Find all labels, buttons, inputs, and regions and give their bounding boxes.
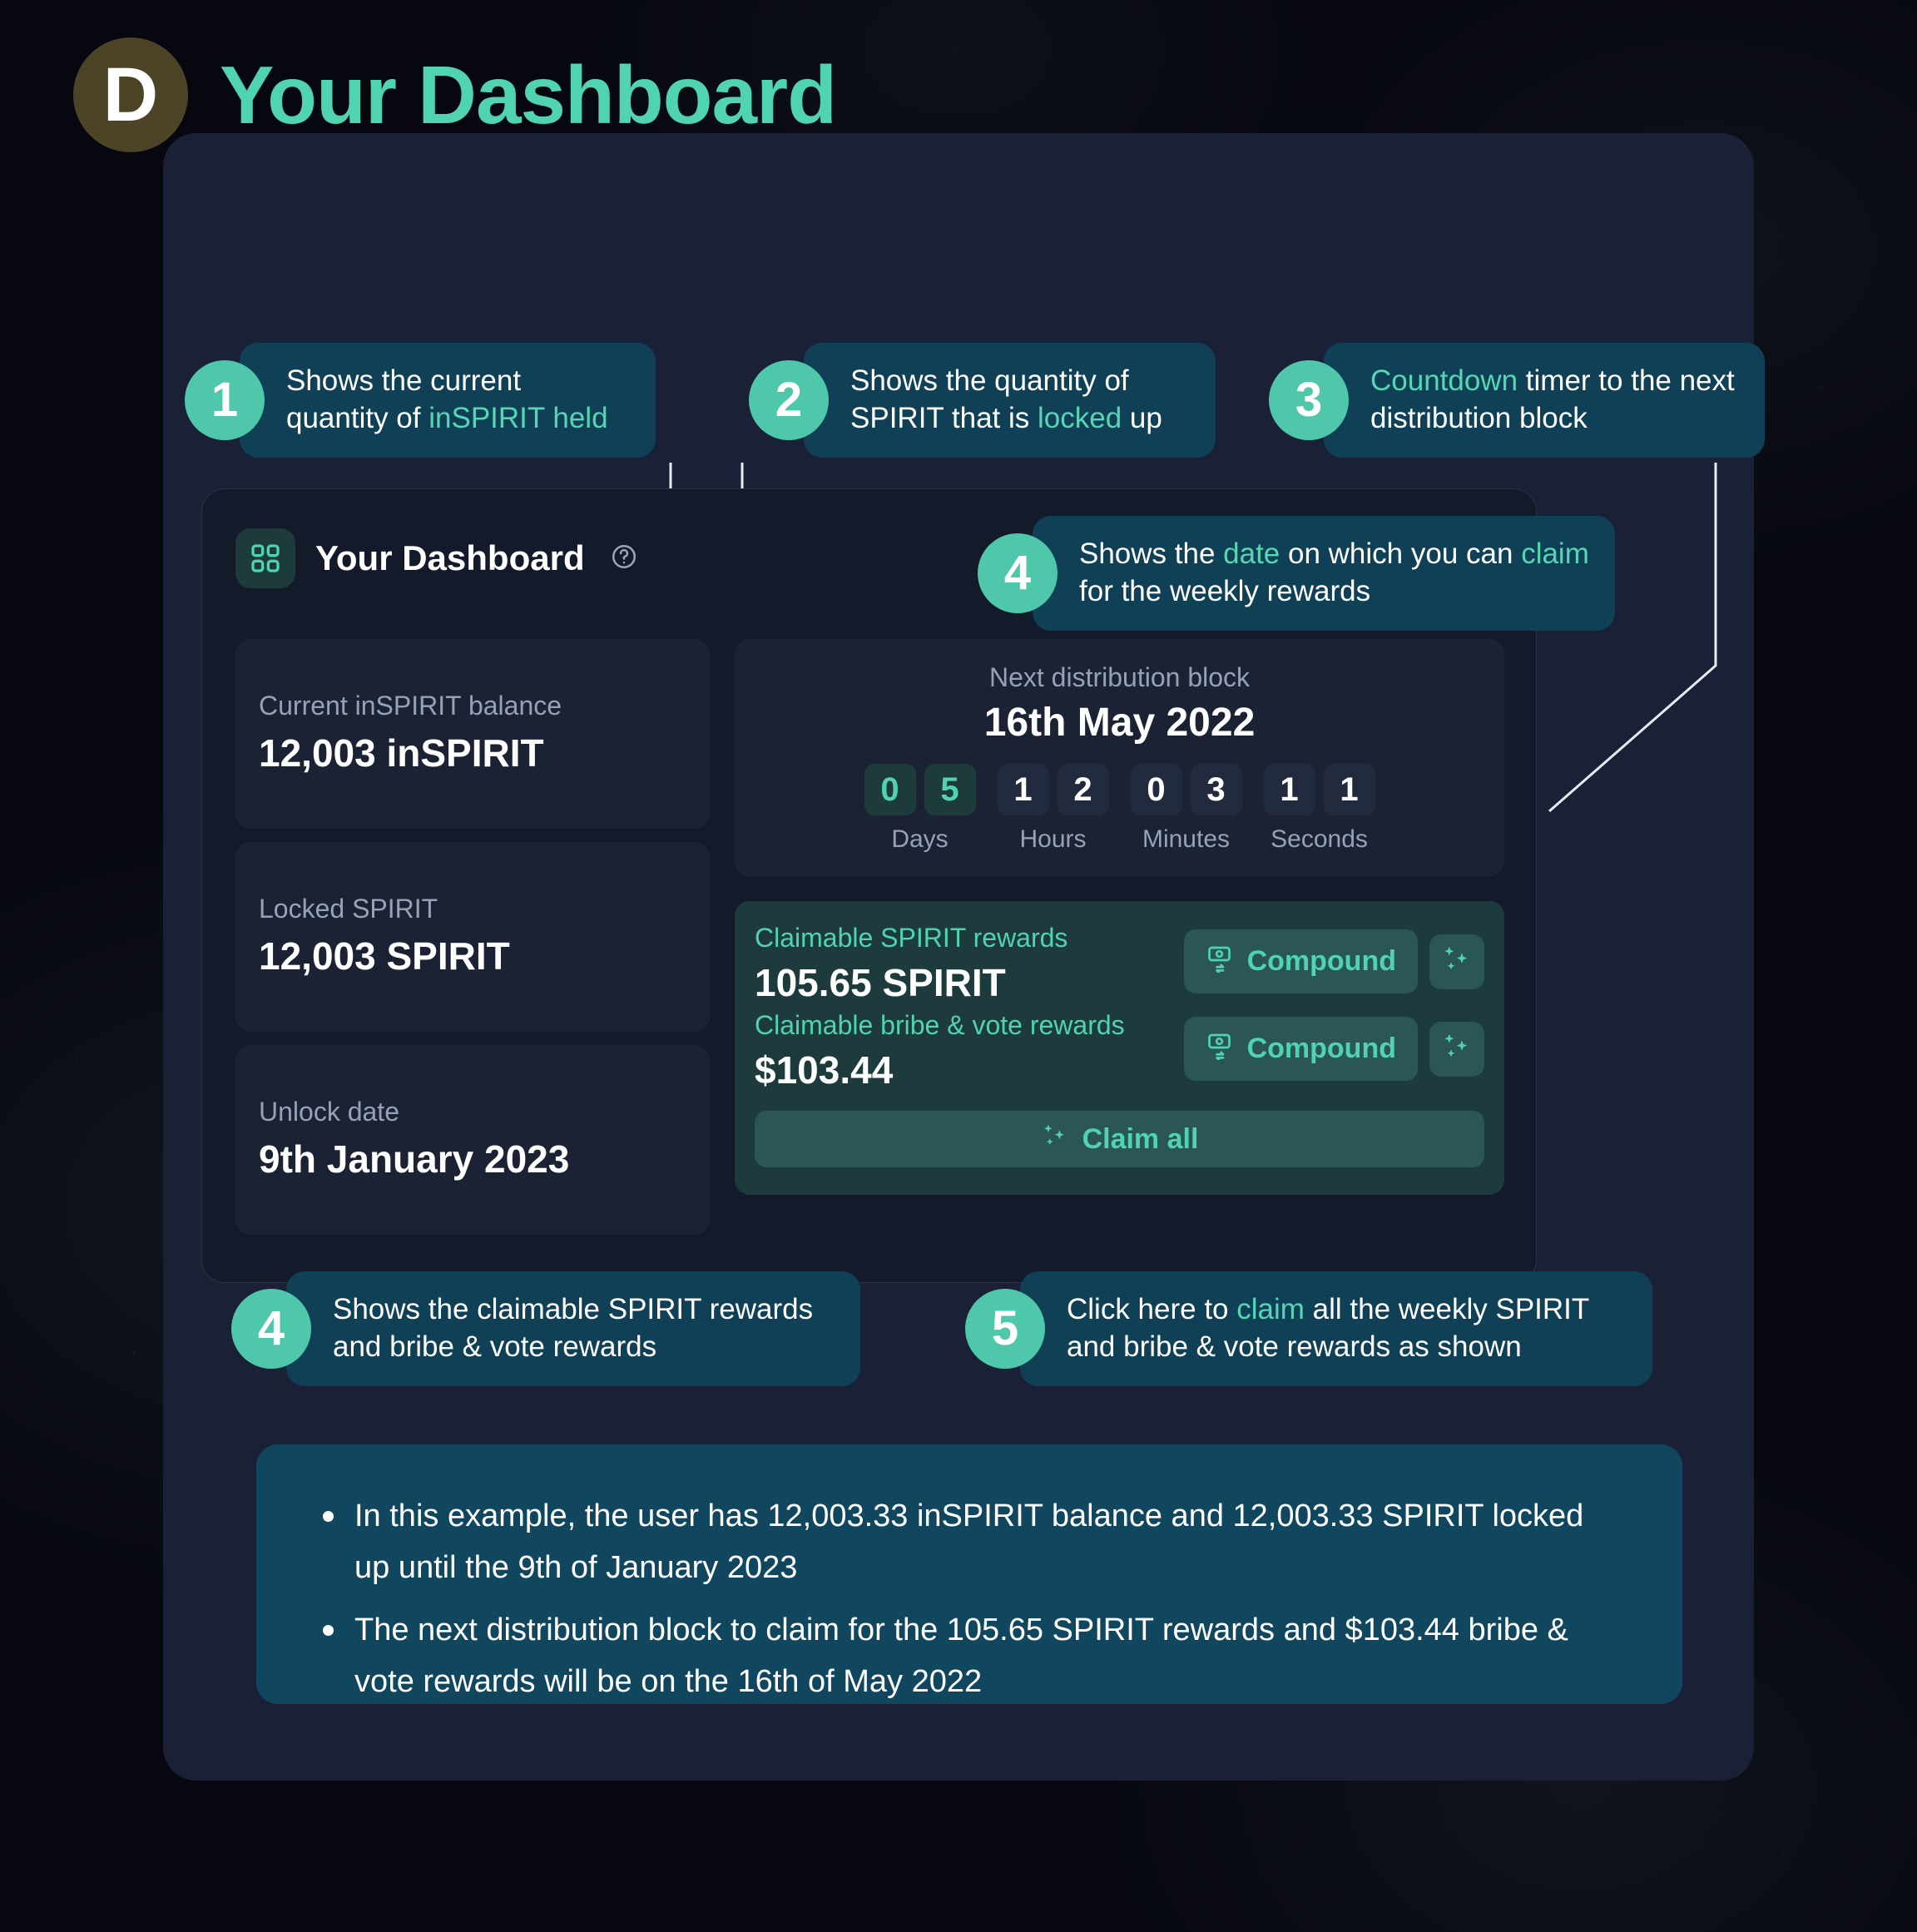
- callout-4-rewards: 4 Shows the claimable SPIRIT rewards and…: [231, 1271, 860, 1386]
- callout-5-body: Click here to claim all the weekly SPIRI…: [1020, 1271, 1652, 1386]
- countdown-digit: 0: [1131, 764, 1182, 815]
- countdown-unit-days: 0 5 Days: [864, 764, 976, 854]
- callout-2-text-after: up: [1122, 402, 1162, 434]
- reward-actions: Compound: [1184, 1017, 1484, 1081]
- sparkles-icon: [1441, 944, 1473, 979]
- callout-2: 2 Shows the quantity of SPIRIT that is l…: [749, 343, 1216, 458]
- stat-unlock-date: Unlock date 9th January 2023: [235, 1045, 710, 1235]
- notes-panel: In this example, the user has 12,003.33 …: [256, 1444, 1682, 1704]
- countdown-date: 16th May 2022: [984, 700, 1256, 746]
- countdown-unit-label: Hours: [1019, 825, 1086, 854]
- help-circle-icon[interactable]: [610, 542, 638, 575]
- dashboard-letter-badge-text: D: [103, 57, 158, 133]
- stat-current-inspirit-balance: Current inSPIRIT balance 12,003 inSPIRIT: [235, 639, 710, 829]
- stat-value: 12,003 SPIRIT: [259, 934, 510, 978]
- stat-value: 9th January 2023: [259, 1137, 569, 1181]
- callout-3: 3 Countdown timer to the next distributi…: [1269, 343, 1765, 458]
- countdown-unit-hours: 1 2 Hours: [998, 764, 1109, 854]
- callout-3-number: 3: [1269, 360, 1349, 440]
- callout-4-highlight: date: [1223, 537, 1280, 570]
- screenshot-root: D Your Dashboard 1 Shows the current qua…: [0, 0, 1917, 1932]
- sparkles-icon: [1441, 1031, 1473, 1067]
- countdown-unit-label: Seconds: [1271, 825, 1368, 854]
- countdown-digit: 1: [1264, 764, 1315, 815]
- sparkles-icon: [1041, 1122, 1069, 1157]
- callout-4-rewards-body: Shows the claimable SPIRIT rewards and b…: [286, 1271, 860, 1386]
- reward-row-bribe-vote: Claimable bribe & vote rewards $103.44 C…: [755, 1010, 1484, 1097]
- compound-button-label: Compound: [1247, 1033, 1396, 1065]
- callout-4-date: 4 Shows the date on which you can claim …: [978, 516, 1615, 631]
- callout-5-number: 5: [965, 1289, 1045, 1369]
- countdown-digit: 1: [998, 764, 1049, 815]
- stat-label: Unlock date: [259, 1097, 399, 1127]
- stat-locked-spirit: Locked SPIRIT 12,003 SPIRIT: [235, 842, 710, 1032]
- callout-1-body: Shows the current quantity of inSPIRIT h…: [240, 343, 656, 458]
- callout-1: 1 Shows the current quantity of inSPIRIT…: [185, 343, 656, 458]
- callout-5-highlight: claim: [1236, 1293, 1305, 1325]
- countdown-unit-label: Minutes: [1142, 825, 1230, 854]
- countdown-label: Next distribution block: [989, 662, 1250, 693]
- callout-4-text-after-2: for the weekly rewards: [1079, 575, 1370, 607]
- callout-5-text-before: Click here to: [1067, 1293, 1236, 1325]
- money-swap-icon: [1206, 1030, 1236, 1068]
- claim-sparkle-button-bribe-vote[interactable]: [1429, 1022, 1484, 1077]
- countdown-digit: 5: [924, 764, 976, 815]
- note-item: In this example, the user has 12,003.33 …: [315, 1491, 1624, 1593]
- dashboard-panel-title: Your Dashboard: [315, 538, 585, 578]
- callout-4-date-number: 4: [978, 533, 1058, 613]
- money-swap-icon: [1206, 943, 1236, 980]
- callout-3-body: Countdown timer to the next distribution…: [1324, 343, 1765, 458]
- compound-button-bribe-vote[interactable]: Compound: [1184, 1017, 1418, 1081]
- callout-4-highlight-2: claim: [1521, 537, 1589, 570]
- note-item: The next distribution block to claim for…: [315, 1605, 1624, 1707]
- reward-row-spirit: Claimable SPIRIT rewards 105.65 SPIRIT C…: [755, 923, 1484, 1010]
- claim-all-label: Claim all: [1082, 1123, 1199, 1156]
- claim-sparkle-button-spirit[interactable]: [1429, 934, 1484, 989]
- callout-4-date-body: Shows the date on which you can claim fo…: [1033, 516, 1615, 631]
- countdown-digit: 2: [1058, 764, 1109, 815]
- callout-1-highlight: inSPIRIT held: [428, 402, 607, 434]
- reward-actions: Compound: [1184, 929, 1484, 993]
- countdown-digit: 1: [1324, 764, 1375, 815]
- countdown-unit-minutes: 0 3 Minutes: [1131, 764, 1242, 854]
- stat-value: 12,003 inSPIRIT: [259, 731, 544, 775]
- countdown-digit: 0: [864, 764, 916, 815]
- grid-icon: [235, 528, 295, 588]
- callout-3-highlight: Countdown: [1370, 364, 1518, 397]
- countdown-unit-seconds: 1 1 Seconds: [1264, 764, 1375, 854]
- callout-2-body: Shows the quantity of SPIRIT that is loc…: [804, 343, 1216, 458]
- compound-button-label: Compound: [1247, 945, 1396, 978]
- callout-4-text-before: Shows the: [1079, 537, 1223, 570]
- dashboard-panel-header: Your Dashboard: [235, 528, 638, 588]
- countdown-unit-label: Days: [891, 825, 948, 854]
- callout-2-number: 2: [749, 360, 829, 440]
- dashboard-letter-badge: D: [73, 37, 188, 152]
- callout-4-rewards-number: 4: [231, 1289, 311, 1369]
- countdown-units: 0 5 Days 1 2 Hours 0 3: [864, 764, 1375, 854]
- callout-2-highlight: locked: [1038, 402, 1122, 434]
- notes-list: In this example, the user has 12,003.33 …: [315, 1491, 1624, 1707]
- countdown-digit: 3: [1191, 764, 1242, 815]
- stat-label: Current inSPIRIT balance: [259, 691, 562, 721]
- rewards-card: Claimable SPIRIT rewards 105.65 SPIRIT C…: [735, 901, 1504, 1195]
- claim-all-button[interactable]: Claim all: [755, 1111, 1484, 1167]
- countdown-card: Next distribution block 16th May 2022 0 …: [735, 639, 1504, 876]
- callout-1-number: 1: [185, 360, 265, 440]
- callout-4-text-after: on which you can: [1280, 537, 1521, 570]
- page-title: Your Dashboard: [220, 48, 836, 142]
- page-header: D Your Dashboard: [73, 37, 836, 152]
- stat-label: Locked SPIRIT: [259, 894, 438, 924]
- compound-button-spirit[interactable]: Compound: [1184, 929, 1418, 993]
- callout-5: 5 Click here to claim all the weekly SPI…: [965, 1271, 1652, 1386]
